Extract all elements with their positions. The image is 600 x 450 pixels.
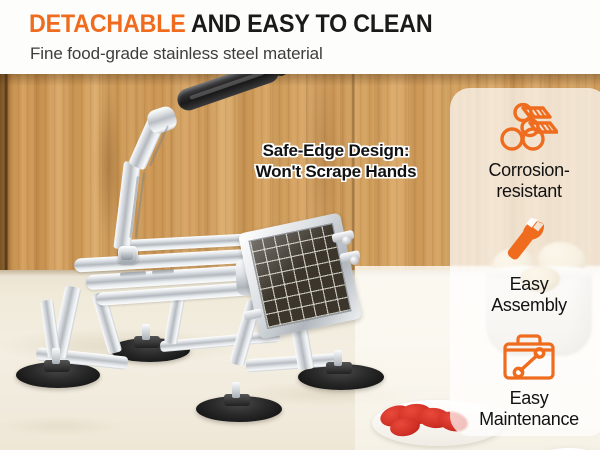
toolbox-wrench-icon: [450, 326, 600, 388]
feature-label: Easy Maintenance: [450, 388, 600, 430]
callout-line-2: Won't Scrape Hands: [236, 161, 436, 182]
mounting-bolt: [232, 382, 240, 398]
blade-screw: [342, 236, 351, 245]
feature-label: Corrosion- resistant: [450, 160, 600, 202]
feature-panel: Corrosion- resistant: [450, 88, 600, 436]
feature-label-line-2: Assembly: [456, 295, 600, 316]
feature-corrosion-resistant: Corrosion- resistant: [450, 98, 600, 202]
feature-easy-maintenance: Easy Maintenance: [450, 326, 600, 430]
feature-easy-assembly: Easy Assembly: [450, 212, 600, 316]
feature-label-line-2: resistant: [456, 181, 600, 202]
product-marketing-image: Safe-Edge Design: Won't Scrape Hands: [0, 0, 600, 450]
callout-line-1: Safe-Edge Design:: [236, 140, 436, 161]
safe-edge-callout: Safe-Edge Design: Won't Scrape Hands: [236, 140, 436, 182]
feature-label-line-1: Corrosion-: [456, 160, 600, 181]
mounting-bolt: [52, 348, 60, 364]
headline-rest: AND EASY TO CLEAN: [186, 10, 433, 38]
pivot-nut: [121, 250, 133, 260]
page-subtitle: Fine food-grade stainless steel material: [30, 44, 323, 64]
feature-label-line-1: Easy: [456, 388, 600, 409]
headline-highlight: DETACHABLE: [29, 10, 186, 38]
blade-screw: [350, 256, 359, 265]
page-title: DETACHABLE AND EASY TO CLEAN: [29, 11, 432, 37]
feature-label-line-2: Maintenance: [456, 409, 600, 430]
frame-support: [164, 295, 185, 345]
feature-label: Easy Assembly: [450, 274, 600, 316]
wrench-icon: [450, 212, 600, 274]
mounting-bolt: [334, 350, 342, 366]
feature-label-line-1: Easy: [456, 274, 600, 295]
mounting-bolt: [142, 324, 150, 340]
header-banner: DETACHABLE AND EASY TO CLEAN Fine food-g…: [0, 0, 600, 74]
fry-sticks-icon: [450, 98, 600, 160]
